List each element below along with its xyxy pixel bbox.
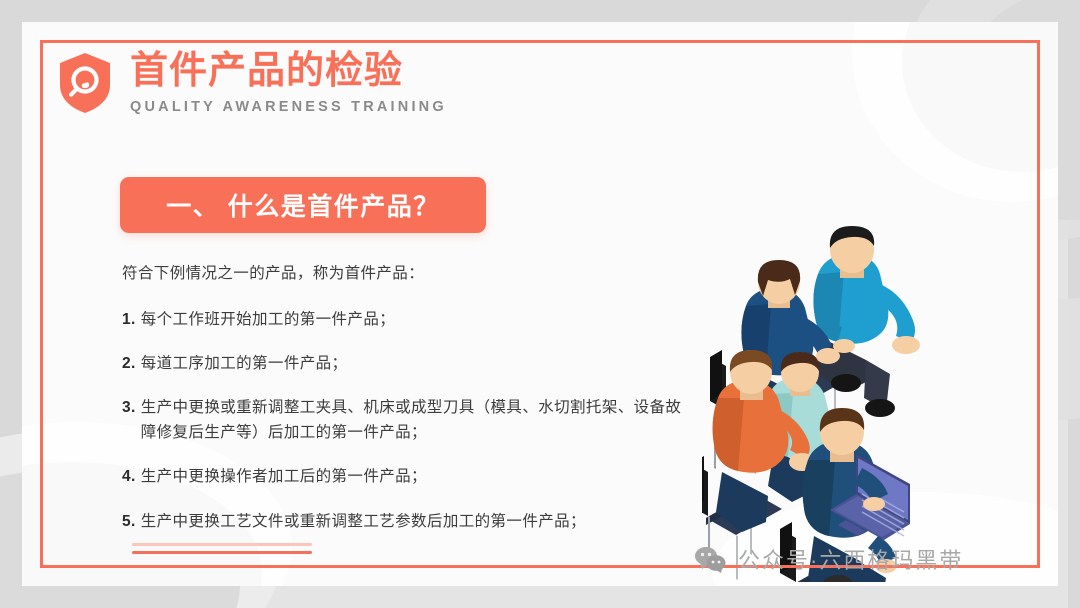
slide-card: 首件产品的检验 QUALITY AWARENESS TRAINING 一、 什么…	[22, 22, 1058, 586]
watermark-text: 公众号·六西格玛黑带	[738, 543, 963, 575]
rule-light	[132, 543, 312, 546]
list-item-number: 4.	[122, 464, 136, 489]
list-item-text: 每个工作班开始加工的第一件产品；	[141, 307, 395, 332]
content-lead: 符合下例情况之一的产品，称为首件产品：	[122, 262, 682, 286]
content-body: 符合下例情况之一的产品，称为首件产品： 1. 每个工作班开始加工的第一件产品； …	[122, 262, 682, 553]
section-banner-label: 一、 什么是首件产品？	[166, 187, 439, 223]
list-item-text: 生产中更换或重新调整工夹具、机床或成型刀具（模具、水切割托架、设备故障修复后生产…	[141, 395, 682, 445]
list-item-number: 1.	[122, 307, 136, 332]
list-item: 4. 生产中更换操作者加工后的第一件产品；	[122, 464, 682, 489]
list-item-number: 3.	[122, 395, 136, 445]
slide-header: 首件产品的检验 QUALITY AWARENESS TRAINING	[58, 52, 447, 115]
list-item-number: 2.	[122, 351, 136, 376]
page-title: 首件产品的检验	[130, 52, 447, 92]
list-item: 1. 每个工作班开始加工的第一件产品；	[122, 307, 682, 332]
rule-accent	[132, 551, 312, 554]
page-subtitle: QUALITY AWARENESS TRAINING	[130, 99, 447, 115]
illustration-people-seated	[702, 222, 1032, 582]
list-item-text: 生产中更换工艺文件或重新调整工艺参数后加工的第一件产品；	[141, 509, 586, 534]
decorative-double-rule	[132, 543, 312, 554]
wechat-icon	[694, 545, 728, 573]
list-item-number: 5.	[122, 509, 136, 534]
watermark: 公众号·六西格玛黑带	[694, 543, 963, 575]
section-banner: 一、 什么是首件产品？	[120, 177, 486, 233]
list-item: 5. 生产中更换工艺文件或重新调整工艺参数后加工的第一件产品；	[122, 509, 682, 534]
list-item-text: 每道工序加工的第一件产品；	[141, 351, 348, 376]
shield-search-icon	[58, 52, 112, 114]
list-item: 3. 生产中更换或重新调整工夹具、机床或成型刀具（模具、水切割托架、设备故障修复…	[122, 395, 682, 445]
list-item: 2. 每道工序加工的第一件产品；	[122, 351, 682, 376]
list-item-text: 生产中更换操作者加工后的第一件产品；	[141, 464, 427, 489]
